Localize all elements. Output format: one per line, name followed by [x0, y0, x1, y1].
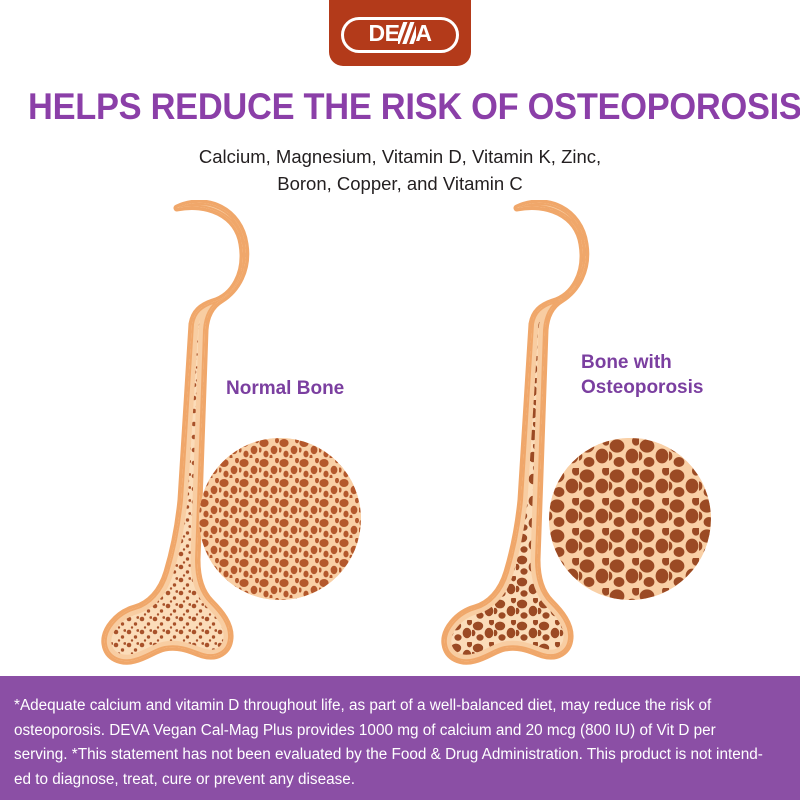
subtitle-line-2: Boron, Copper, and Vitamin C	[0, 170, 800, 197]
osteoporosis-trabecular-detail-icon	[549, 438, 711, 600]
ingredient-subtitle: Calcium, Magnesium, Vitamin D, Vitamin K…	[0, 143, 800, 197]
normal-trabecular-detail-icon	[199, 438, 361, 600]
normal-bone-label-text: Normal Bone	[226, 376, 344, 401]
osteoporosis-bone-label: Bone with Osteoporosis	[581, 350, 703, 400]
logo-letter-a: A	[415, 22, 431, 45]
osteoporosis-bone-detail-circle	[549, 438, 711, 600]
logo-wordmark: DEA	[329, 0, 471, 66]
disclaimer-text: *Adequate calcium and vitamin D througho…	[14, 694, 786, 792]
normal-femur-icon	[85, 200, 285, 670]
osteoporosis-bone-illustration	[425, 200, 625, 670]
disclaimer-line-3: serving. *This statement has not been ev…	[14, 743, 786, 768]
normal-bone-illustration	[85, 200, 285, 670]
page-title: HELPS REDUCE THE RISK OF OSTEOPOROSIS*	[28, 86, 772, 128]
logo-slash-v-icon	[398, 22, 416, 44]
normal-bone-label: Normal Bone	[226, 376, 344, 401]
disclaimer-line-2: osteoporosis. DEVA Vegan Cal-Mag Plus pr…	[14, 719, 786, 744]
disclaimer-bar: *Adequate calcium and vitamin D througho…	[0, 676, 800, 800]
osteoporosis-femur-icon	[425, 200, 625, 670]
deva-logo-banner[interactable]: DEA DEVA	[329, 0, 471, 66]
infographic-page: DEA DEVA HELPS REDUCE THE RISK OF OSTEOP…	[0, 0, 800, 800]
osteoporosis-label-line-1: Bone with	[581, 350, 703, 375]
disclaimer-line-4: ed to diagnose, treat, cure or prevent a…	[14, 768, 786, 793]
normal-bone-detail-circle	[199, 438, 361, 600]
logo-letter-d: D	[368, 22, 384, 45]
disclaimer-line-1: *Adequate calcium and vitamin D througho…	[14, 694, 786, 719]
subtitle-line-1: Calcium, Magnesium, Vitamin D, Vitamin K…	[0, 143, 800, 170]
osteoporosis-label-line-2: Osteoporosis	[581, 375, 703, 400]
logo-letter-e: E	[385, 22, 400, 45]
